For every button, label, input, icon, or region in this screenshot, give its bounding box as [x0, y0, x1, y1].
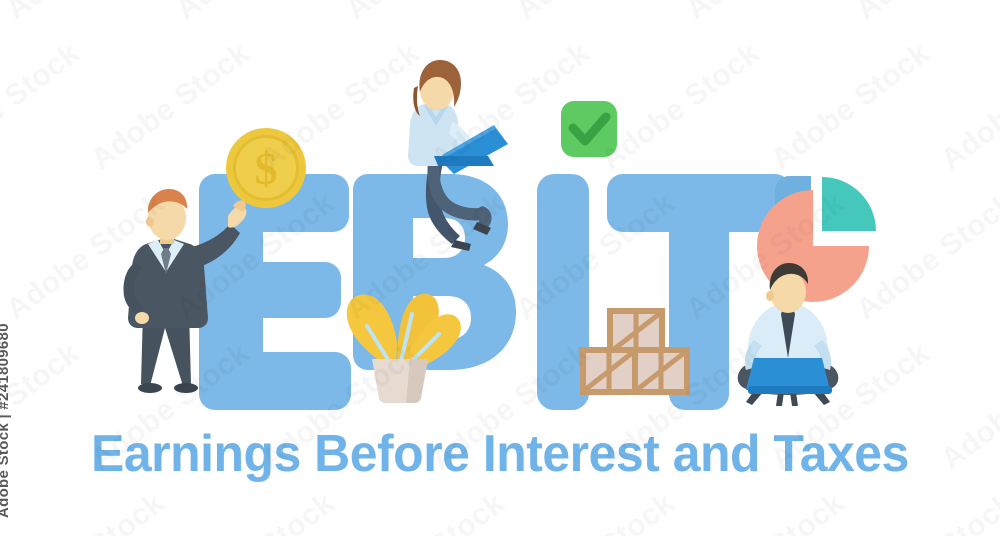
- green-checkmark-icon: [561, 101, 617, 157]
- subtitle-text: Earnings Before Interest and Taxes: [91, 424, 909, 484]
- gold-coin: $: [226, 128, 306, 208]
- subtitle: Earnings Before Interest and Taxes: [0, 424, 1000, 484]
- illustration-canvas: $: [0, 0, 1000, 536]
- svg-text:$: $: [255, 143, 278, 194]
- letter-E: [199, 174, 351, 410]
- credit-rail: Adobe Stock | #241809680: [0, 0, 62, 536]
- headline-letters: [199, 174, 791, 410]
- stock-credit-text: Adobe Stock | #241809680: [0, 323, 12, 518]
